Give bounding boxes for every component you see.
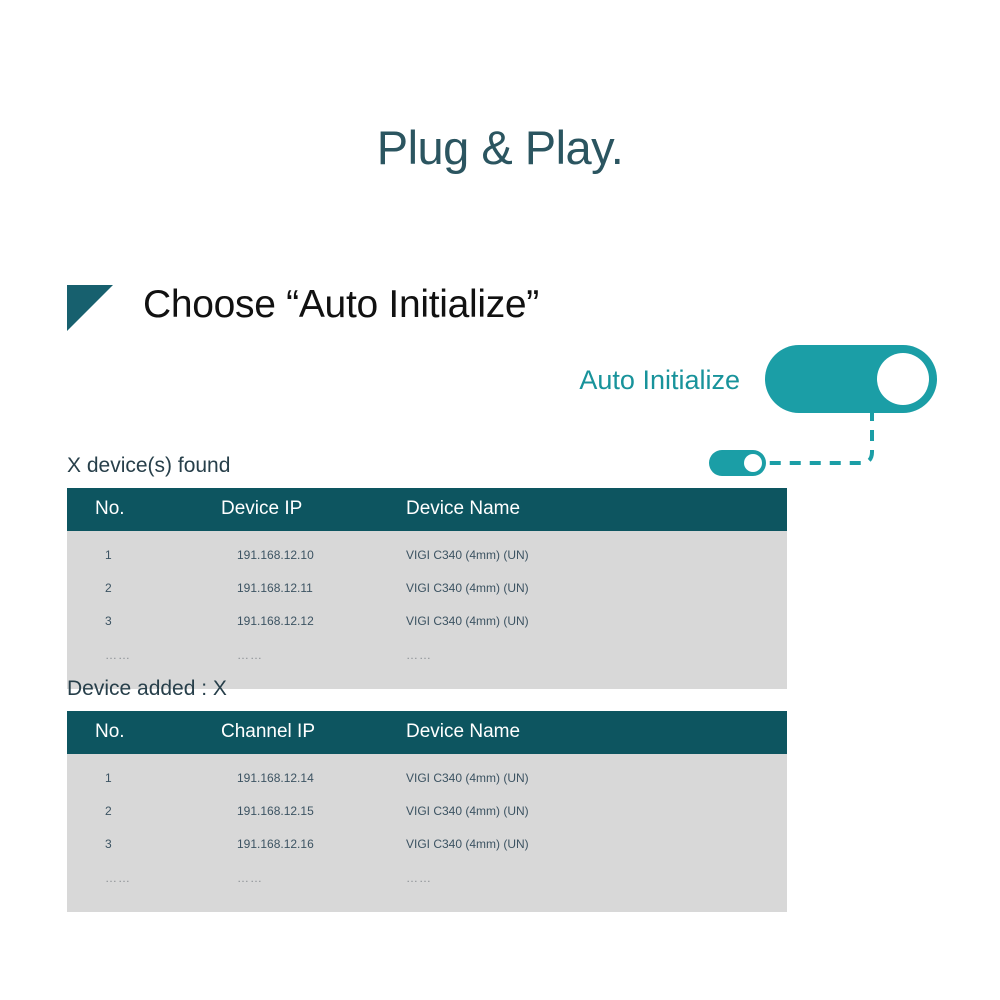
cell-device-name: VIGI C340 (4mm) (UN): [406, 754, 787, 795]
auto-initialize-toggle[interactable]: [765, 345, 937, 413]
table-row[interactable]: 3 191.168.12.16 VIGI C340 (4mm) (UN): [67, 828, 787, 861]
devices-found-caption: X device(s) found: [67, 453, 787, 479]
cell-device-ip: 191.168.12.11: [221, 572, 406, 605]
devices-found-table: No. Device IP Device Name 1 191.168.12.1…: [67, 488, 787, 689]
devices-added-table: No. Channel IP Device Name 1 191.168.12.…: [67, 711, 787, 912]
column-header-channel-ip: Channel IP: [221, 711, 406, 754]
page-title: Plug & Play.: [0, 124, 1000, 171]
table-row[interactable]: 2 191.168.12.11 VIGI C340 (4mm) (UN): [67, 572, 787, 605]
cell-device-name: VIGI C340 (4mm) (UN): [406, 795, 787, 828]
auto-initialize-label: Auto Initialize: [579, 365, 740, 395]
table-row[interactable]: 1 191.168.12.14 VIGI C340 (4mm) (UN): [67, 754, 787, 795]
column-header-no: No.: [67, 711, 221, 754]
cell-device-name: VIGI C340 (4mm) (UN): [406, 828, 787, 861]
table-row[interactable]: 2 191.168.12.15 VIGI C340 (4mm) (UN): [67, 795, 787, 828]
table-header-row: No. Channel IP Device Name: [67, 711, 787, 754]
cell-no-ellipsis: ……: [67, 861, 221, 912]
toggle-knob-icon: [877, 353, 929, 405]
cell-device-ip: 191.168.12.12: [221, 605, 406, 638]
table-row-ellipsis: …… …… ……: [67, 861, 787, 912]
step-heading: Choose “Auto Initialize”: [67, 282, 539, 331]
cell-channel-ip: 191.168.12.15: [221, 795, 406, 828]
cell-no: 1: [67, 754, 221, 795]
cell-device-name: VIGI C340 (4mm) (UN): [406, 531, 787, 572]
cell-device-ip: 191.168.12.10: [221, 531, 406, 572]
column-header-no: No.: [67, 488, 221, 531]
cell-device-name: VIGI C340 (4mm) (UN): [406, 605, 787, 638]
cell-no: 3: [67, 605, 221, 638]
cell-channel-ip-ellipsis: ……: [221, 861, 406, 912]
column-header-device-name: Device Name: [406, 711, 787, 754]
table-header-row: No. Device IP Device Name: [67, 488, 787, 531]
cell-no: 1: [67, 531, 221, 572]
triangle-marker-icon: [67, 285, 113, 331]
devices-added-section: Device added : X No. Channel IP Device N…: [67, 676, 787, 912]
cell-device-name-ellipsis: ……: [406, 861, 787, 912]
cell-no: 3: [67, 828, 221, 861]
devices-found-section: X device(s) found No. Device IP Device N…: [67, 453, 787, 689]
column-header-device-name: Device Name: [406, 488, 787, 531]
cell-no: 2: [67, 572, 221, 605]
table-row[interactable]: 3 191.168.12.12 VIGI C340 (4mm) (UN): [67, 605, 787, 638]
table-row[interactable]: 1 191.168.12.10 VIGI C340 (4mm) (UN): [67, 531, 787, 572]
column-header-device-ip: Device IP: [221, 488, 406, 531]
cell-channel-ip: 191.168.12.14: [221, 754, 406, 795]
cell-device-name: VIGI C340 (4mm) (UN): [406, 572, 787, 605]
cell-no: 2: [67, 795, 221, 828]
step-heading-label: Choose “Auto Initialize”: [143, 282, 539, 328]
cell-channel-ip: 191.168.12.16: [221, 828, 406, 861]
devices-added-caption: Device added : X: [67, 676, 787, 702]
